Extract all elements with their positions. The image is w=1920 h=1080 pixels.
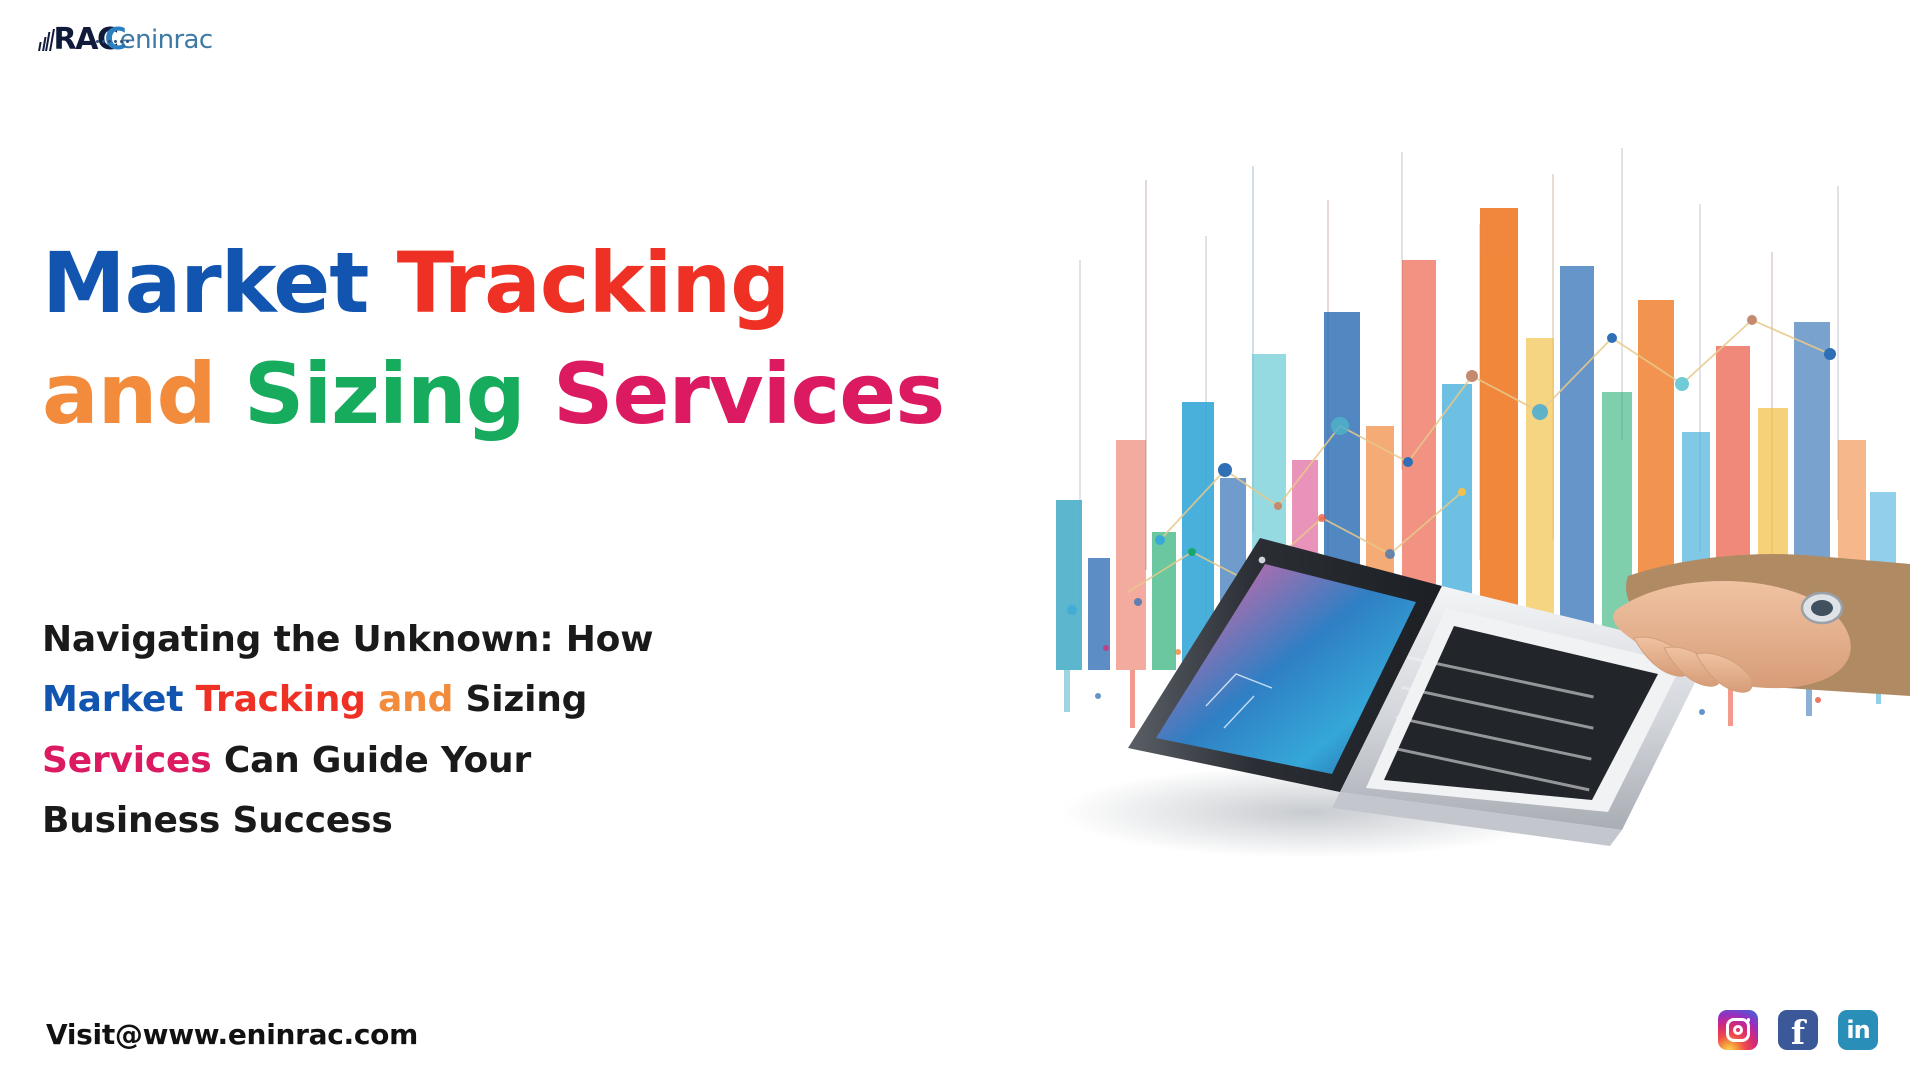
headline-word-and: and bbox=[42, 345, 216, 443]
subhead-text-can-guide-your: Can Guide Your bbox=[224, 740, 531, 781]
page-title: Market Tracking and Sizing Services bbox=[42, 228, 1042, 450]
instagram-frame bbox=[1726, 1018, 1750, 1042]
subhead-word-services: Services bbox=[42, 740, 212, 781]
headline-line-2: and Sizing Services bbox=[42, 339, 1042, 450]
social-links: f in bbox=[1718, 1010, 1878, 1050]
facebook-f-glyph: f bbox=[1791, 1016, 1805, 1049]
subhead-text-business-success: Business Success bbox=[42, 800, 393, 841]
poster-canvas: RAC C eninrac Market Tracking and Sizing… bbox=[0, 0, 1920, 1080]
subhead-word-and: and bbox=[378, 679, 453, 720]
logo-wordmark: eninrac bbox=[120, 27, 213, 53]
instagram-icon[interactable] bbox=[1718, 1010, 1758, 1050]
headline-line-1: Market Tracking bbox=[42, 228, 1042, 339]
subhead-text-navigating: Navigating the Unknown: How bbox=[42, 619, 653, 660]
headline-word-services: Services bbox=[553, 345, 944, 443]
instagram-lens bbox=[1733, 1025, 1743, 1035]
linkedin-in-glyph: in bbox=[1846, 1018, 1869, 1042]
subhead-word-market: Market bbox=[42, 679, 183, 720]
logo-dots-icon bbox=[96, 40, 129, 43]
facebook-icon[interactable]: f bbox=[1778, 1010, 1818, 1050]
headline-word-market: Market bbox=[42, 234, 368, 332]
headline-word-tracking: Tracking bbox=[397, 234, 790, 332]
subhead-line-4: Business Success bbox=[42, 791, 882, 851]
page-subtitle: Navigating the Unknown: How Market Track… bbox=[42, 610, 882, 852]
subhead-line-1: Navigating the Unknown: How bbox=[42, 610, 882, 670]
instagram-dot bbox=[1747, 1018, 1751, 1022]
rac-bars-icon bbox=[38, 29, 54, 51]
subhead-line-2: Market Tracking and Sizing bbox=[42, 670, 882, 730]
subhead-word-sizing: Sizing bbox=[465, 679, 587, 720]
visit-url[interactable]: Visit@www.eninrac.com bbox=[46, 1018, 418, 1051]
subhead-line-3: Services Can Guide Your bbox=[42, 731, 882, 791]
hero-illustration bbox=[1010, 140, 1910, 900]
headline-word-sizing: Sizing bbox=[244, 345, 525, 443]
subhead-word-tracking: Tracking bbox=[196, 679, 366, 720]
linkedin-icon[interactable]: in bbox=[1838, 1010, 1878, 1050]
